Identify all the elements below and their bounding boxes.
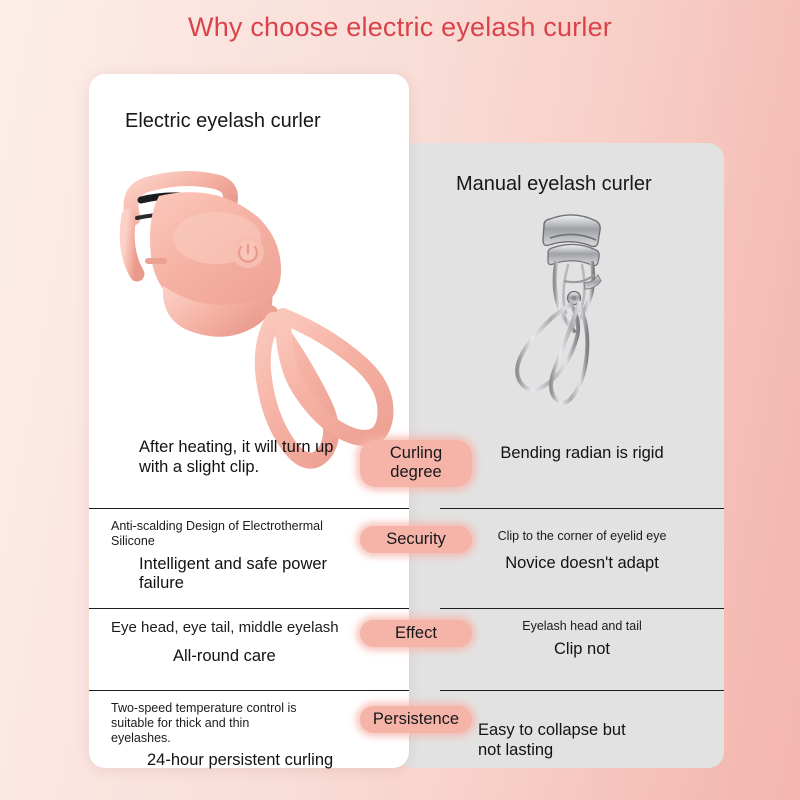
manual-feature-column: Bending radian is rigid Clip to the corn… [440, 428, 724, 794]
row-headline: 24-hour persistent curling [111, 751, 387, 771]
table-row: Easy to collapse but not lasting [440, 690, 724, 794]
criteria-badge-effect: Effect [360, 620, 472, 647]
row-headline: Clip not [448, 640, 716, 660]
electric-card-title: Electric eyelash curler [125, 110, 321, 133]
criteria-badge-persistence: Persistence [360, 706, 472, 733]
manual-eyelash-curler-image [476, 205, 646, 405]
table-row: Bending radian is rigid [440, 428, 724, 508]
row-headline: Bending radian is rigid [448, 438, 716, 464]
row-headline: Easy to collapse but not lasting [448, 721, 716, 761]
page-title: Why choose electric eyelash curler [0, 12, 800, 43]
criteria-badge-security: Security [360, 526, 472, 553]
row-detail: Clip to the corner of eyelid eye [448, 529, 716, 544]
table-row: Eyelash head and tail Clip not [440, 608, 724, 690]
comparison-criteria-badges: Curling degree Security Effect Persisten… [360, 428, 472, 798]
manual-card-title: Manual eyelash curler [456, 173, 652, 196]
table-row: Clip to the corner of eyelid eye Novice … [440, 508, 724, 608]
row-detail: Eyelash head and tail [448, 619, 716, 634]
comparison-infographic: Why choose electric eyelash curler Manua… [0, 0, 800, 800]
row-detail: Anti-scalding Design of Electrothermal S… [111, 519, 387, 549]
row-headline: All-round care [111, 647, 387, 667]
criteria-badge-curling-degree: Curling degree [360, 440, 472, 487]
row-headline: Novice doesn't adapt [448, 554, 716, 574]
row-detail: Two-speed temperature control is suitabl… [111, 701, 387, 745]
row-detail: Eye head, eye tail, middle eyelash [111, 619, 387, 637]
row-headline: Intelligent and safe power failure [111, 555, 387, 595]
row-headline: After heating, it will turn up with a sl… [111, 438, 387, 478]
